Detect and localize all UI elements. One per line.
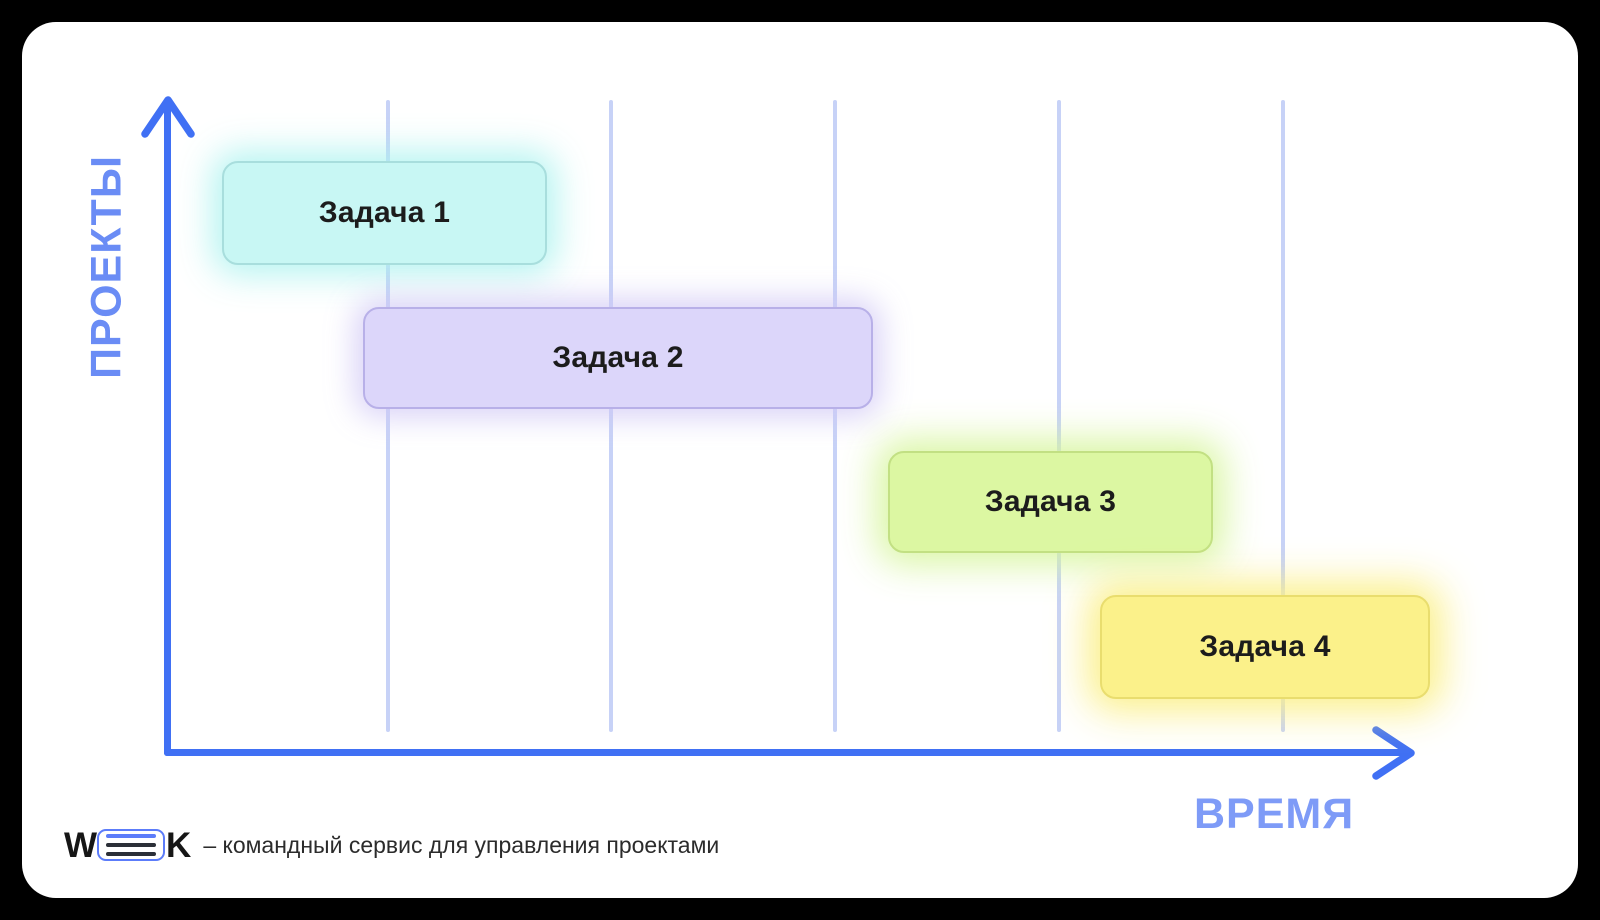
y-axis-title-text: ПРОЕКТЫ: [83, 155, 132, 379]
gantt-chart: ПРОЕКТЫ ВРЕМЯ Задача 1 Задача 2 Задача 3…: [22, 22, 1578, 898]
logo-letter-right: K: [166, 828, 190, 863]
x-axis-line: [164, 749, 1409, 756]
logo-bar-3: [106, 852, 156, 857]
gridline-3: [833, 100, 837, 732]
logo-bar-2: [106, 843, 156, 848]
y-axis-line: [164, 102, 171, 756]
logo-bar-1: [106, 834, 156, 839]
gridline-4: [1057, 100, 1061, 732]
task-bar-4[interactable]: Задача 4: [1100, 595, 1430, 699]
task-bar-label: Задача 3: [985, 485, 1116, 519]
footer: W K – командный сервис для управления пр…: [64, 822, 719, 868]
task-bar-2[interactable]: Задача 2: [363, 307, 873, 409]
arrow-right-icon: [1370, 724, 1418, 782]
gridline-2: [609, 100, 613, 732]
x-axis-title: ВРЕМЯ: [1194, 790, 1354, 839]
task-bar-label: Задача 1: [319, 196, 450, 230]
arrow-up-icon: [139, 92, 197, 138]
weeek-logo[interactable]: W K: [64, 825, 190, 865]
screenshot-root: ПРОЕКТЫ ВРЕМЯ Задача 1 Задача 2 Задача 3…: [0, 0, 1600, 920]
task-bar-1[interactable]: Задача 1: [222, 161, 547, 265]
y-axis-title: ПРОЕКТЫ: [77, 122, 137, 412]
logo-letter-left: W: [64, 828, 96, 863]
task-bar-label: Задача 4: [1199, 630, 1330, 664]
task-bar-3[interactable]: Задача 3: [888, 451, 1213, 553]
task-bar-label: Задача 2: [552, 341, 683, 375]
diagram-card: ПРОЕКТЫ ВРЕМЯ Задача 1 Задача 2 Задача 3…: [22, 22, 1578, 898]
footer-tagline: – командный сервис для управления проект…: [203, 832, 719, 859]
weeek-list-icon: [97, 829, 165, 861]
